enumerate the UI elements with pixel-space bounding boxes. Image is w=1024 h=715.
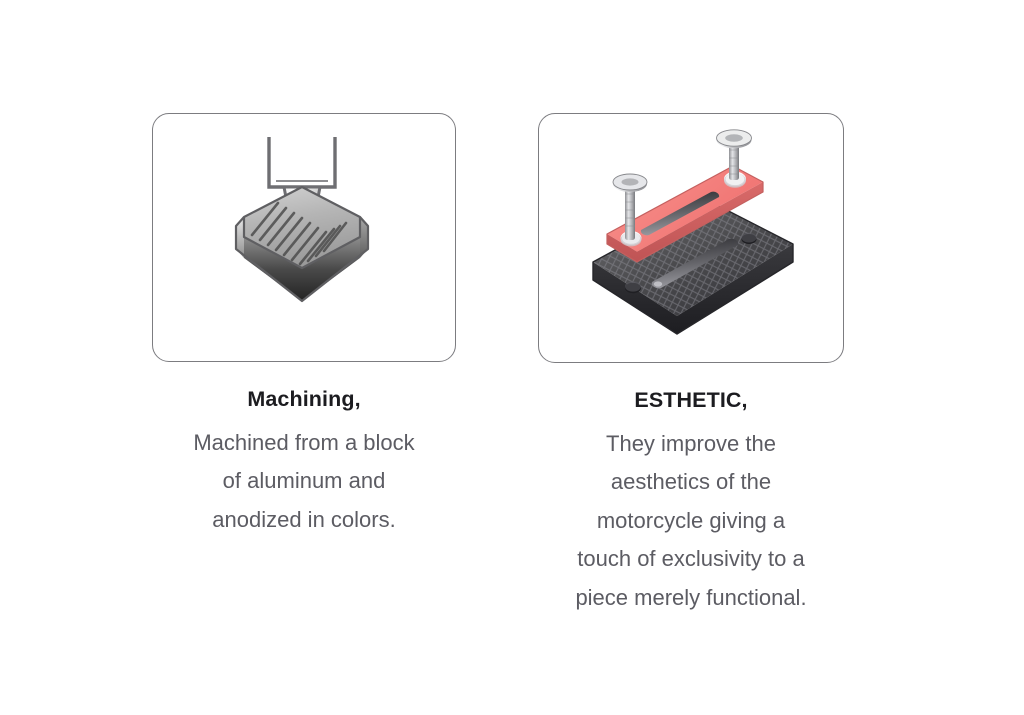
feature-heading: Machining,	[152, 388, 456, 412]
feature-body-line: of aluminum and	[152, 462, 456, 501]
icon-card-esthetic	[538, 113, 844, 363]
anodized-plate-with-screws-icon	[557, 122, 825, 354]
feature-text-machining: Machining, Machined from a block of alum…	[152, 388, 456, 539]
cnc-milling-machine-icon	[174, 125, 434, 350]
feature-column-esthetic: ESTHETIC, They improve the aesthetics of…	[538, 113, 844, 617]
icon-card-machining	[152, 113, 456, 362]
feature-body: Machined from a block of aluminum and an…	[152, 424, 456, 540]
feature-column-machining: Machining, Machined from a block of alum…	[152, 113, 456, 539]
feature-text-esthetic: ESTHETIC, They improve the aesthetics of…	[538, 389, 844, 617]
tool-holder-icon	[269, 137, 335, 187]
feature-body-line: aesthetics of the	[538, 463, 844, 502]
features-section: Machining, Machined from a block of alum…	[0, 0, 1024, 715]
feature-body-line: They improve the	[538, 425, 844, 464]
feature-body-line: piece merely functional.	[538, 579, 844, 618]
feature-body-line: touch of exclusivity to a	[538, 540, 844, 579]
feature-body-line: Machined from a block	[152, 424, 456, 463]
feature-body-line: motorcycle giving a	[538, 502, 844, 541]
feature-body: They improve the aesthetics of the motor…	[538, 425, 844, 618]
feature-body-line: anodized in colors.	[152, 501, 456, 540]
feature-heading: ESTHETIC,	[538, 389, 844, 413]
